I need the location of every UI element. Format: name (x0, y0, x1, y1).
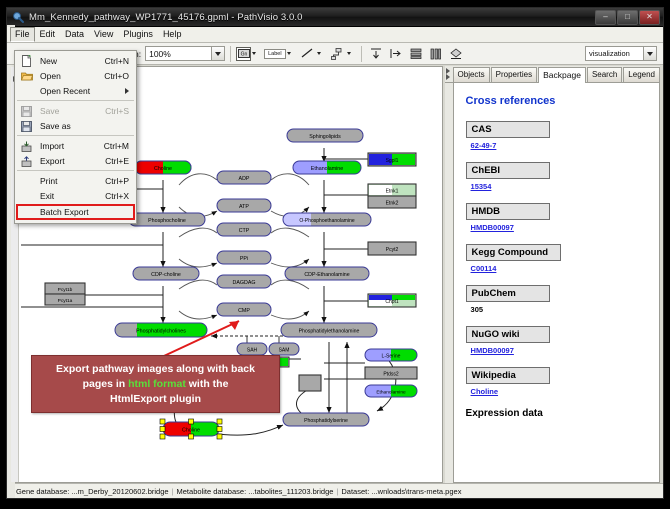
align-top-icon[interactable] (367, 45, 385, 62)
label-tool-label: Label (264, 49, 285, 59)
datanode-tool[interactable]: Gn (236, 47, 256, 61)
xref-pubchem-label: PubChem (466, 285, 550, 302)
menu-item-open-recent[interactable]: Open Recent (15, 83, 136, 98)
align-rows-icon[interactable] (407, 45, 425, 62)
visualization-combobox[interactable]: visualization (585, 46, 657, 61)
menu-item-new-label: New (40, 56, 57, 66)
svg-text:Etnk2: Etnk2 (386, 201, 399, 207)
svg-text:Pcyt1b: Pcyt1b (58, 287, 73, 293)
svg-text:Chpt1: Chpt1 (385, 299, 399, 305)
node-phosphatidylserine: Phosphatidylserine (283, 413, 369, 426)
callout-line-2-b: with the (186, 378, 229, 390)
tab-legend[interactable]: Legend (623, 67, 660, 82)
xref-cas-link[interactable]: 62-49-7 (471, 141, 497, 150)
cross-references-title: Cross references (466, 95, 649, 107)
tab-properties[interactable]: Properties (491, 67, 537, 82)
svg-text:Ptdss2: Ptdss2 (383, 372, 399, 378)
svg-text:SAM: SAM (279, 348, 290, 354)
xref-kegg-label: Kegg Compound (466, 244, 561, 261)
callout-line-3: HtmlExport plugin (110, 393, 201, 405)
gene-ptdss2: Ptdss2 (365, 367, 417, 379)
menu-item-export-label: Export (40, 156, 65, 166)
node-ppi: PPi (217, 251, 271, 264)
menu-item-open-accel: Ctrl+O (104, 71, 136, 81)
gene-pcyt1b: Pcyt1b (45, 283, 85, 294)
xref-nugo-value: HMDB00097 (466, 343, 649, 364)
chevron-down-icon[interactable] (287, 52, 291, 55)
xref-wikipedia: Wikipedia Choline (466, 367, 649, 405)
chevron-down-icon[interactable] (347, 52, 351, 55)
xref-cas: CAS 62-49-7 (466, 121, 649, 159)
xref-kegg: Kegg Compound C00114 (466, 244, 649, 282)
toolbar-separator (230, 46, 231, 62)
menu-item-import-label: Import (40, 141, 64, 151)
xref-hmdb-value: HMDB00097 (466, 220, 649, 241)
node-adp: ADP (217, 171, 271, 184)
menu-plugins[interactable]: Plugins (118, 27, 158, 42)
tab-search[interactable]: Search (587, 67, 622, 82)
xref-nugo-link[interactable]: HMDB00097 (471, 346, 514, 355)
menu-item-exit[interactable]: Exit Ctrl+X (15, 188, 136, 203)
menu-item-save-label: Save (40, 106, 59, 116)
node-sam: SAM (269, 343, 299, 355)
xref-wikipedia-link[interactable]: Choline (471, 387, 499, 396)
panel-tab-strip: Objects Properties Backpage Search Legen… (445, 66, 660, 83)
node-sphingolipids: Sphingolipids (287, 129, 363, 142)
node-ethanolamine-top: Ethanolamine (293, 161, 361, 174)
node-o-phosphoethanolamine: O-Phosphoethanolamine (283, 213, 371, 226)
pathvisio-application-window: Mm_Kennedy_pathway_WP1771_45176.gpml - P… (6, 7, 664, 499)
svg-text:Phosphocholine: Phosphocholine (148, 218, 186, 224)
label-tool[interactable]: Label (264, 49, 290, 59)
menu-item-print-accel: Ctrl+P (105, 176, 136, 186)
svg-text:ATP: ATP (239, 204, 249, 210)
node-cdp-ethanolamine: CDP-Ethanolamine (285, 267, 369, 280)
gene-etnk1: Etnk1 (368, 184, 416, 196)
xref-chebi: ChEBI 15354 (466, 162, 649, 200)
expression-data-title: Expression data (466, 408, 649, 419)
export-icon (20, 155, 33, 167)
line-icon (299, 45, 316, 62)
menu-separator (17, 100, 134, 101)
xref-cas-value: 62-49-7 (466, 138, 649, 159)
tab-scroll-grip[interactable] (446, 68, 451, 80)
menu-help[interactable]: Help (158, 27, 187, 42)
menu-item-batch-export-label: Batch Export (40, 207, 89, 217)
menu-item-print[interactable]: Print Ctrl+P (15, 173, 136, 188)
node-choline: Choline (135, 161, 191, 174)
xref-chebi-value: 15354 (466, 179, 649, 200)
submenu-arrow-icon (125, 88, 136, 94)
svg-text:Phosphatidylethanolamine: Phosphatidylethanolamine (299, 329, 360, 335)
xref-chebi-label: ChEBI (466, 162, 550, 179)
save-disk-icon (20, 105, 33, 117)
menu-item-new-accel: Ctrl+N (105, 56, 136, 66)
menu-item-save-accel: Ctrl+S (105, 106, 136, 116)
gene-etnk2: Etnk2 (368, 196, 416, 208)
node-l-serine: L-Serine (365, 349, 417, 361)
title-bar: Mm_Kennedy_pathway_WP1771_45176.gpml - P… (7, 8, 663, 27)
menu-separator (17, 170, 134, 171)
node-atp: ATP (217, 199, 271, 212)
backpage-content: Cross references CAS 62-49-7 ChEBI 15354… (453, 83, 660, 483)
svg-text:Ethanolamine: Ethanolamine (311, 166, 343, 172)
svg-text:PPi: PPi (240, 256, 248, 262)
window-title: Mm_Kennedy_pathway_WP1771_45176.gpml - P… (29, 12, 303, 23)
node-choline-selected: Choline (160, 419, 222, 439)
status-divider-3: | (336, 487, 338, 496)
pathvisio-icon (12, 11, 25, 24)
tab-objects[interactable]: Objects (453, 67, 490, 82)
svg-text:O-Phosphoethanolamine: O-Phosphoethanolamine (299, 218, 355, 224)
side-panel: Objects Properties Backpage Search Legen… (445, 66, 660, 483)
xref-pubchem-value: 305 (466, 302, 649, 323)
menu-item-save-as[interactable]: Save as (15, 118, 136, 133)
xref-nugo: NuGO wiki HMDB00097 (466, 326, 649, 364)
node-cmp: CMP (217, 303, 271, 316)
interaction-tool[interactable] (329, 45, 351, 62)
xref-kegg-value: C00114 (466, 261, 649, 282)
menu-item-import[interactable]: Import Ctrl+M (15, 138, 136, 153)
svg-text:Etnk1: Etnk1 (386, 189, 399, 195)
desktop-background: Mm_Kennedy_pathway_WP1771_45176.gpml - P… (0, 0, 670, 509)
status-divider-2: | (172, 487, 174, 496)
save-as-icon (20, 120, 33, 132)
svg-text:Sphingolipids: Sphingolipids (309, 134, 341, 140)
import-icon (20, 140, 33, 152)
menu-item-batch-export[interactable]: Batch Export (16, 204, 135, 220)
xref-chebi-link[interactable]: 15354 (471, 182, 492, 191)
callout-line-2-a: pages in (83, 378, 129, 390)
xref-cas-label: CAS (466, 121, 550, 138)
svg-text:CMP: CMP (238, 308, 250, 314)
menu-item-save-as-label: Save as (40, 121, 71, 131)
status-dataset: Dataset: ...wnloads\trans-meta.pgex (341, 487, 461, 496)
chevron-down-icon[interactable] (317, 52, 321, 55)
minimize-button[interactable]: – (595, 10, 616, 25)
xref-wikipedia-value: Choline (466, 384, 649, 405)
menu-data[interactable]: Data (60, 27, 89, 42)
node-cdp-choline: CDP-choline (133, 267, 199, 280)
menu-view[interactable]: View (89, 27, 118, 42)
window-controls: – □ ✕ (595, 10, 661, 25)
menu-item-new[interactable]: New Ctrl+N (15, 53, 136, 68)
node-phosphatidylethanolamine: Phosphatidylethanolamine (281, 323, 377, 337)
open-folder-icon (20, 70, 33, 82)
svg-text:Pcyt2: Pcyt2 (386, 247, 399, 253)
xref-hmdb-label: HMDB (466, 203, 550, 220)
menu-item-open-recent-label: Open Recent (40, 86, 90, 96)
svg-text:L-Serine: L-Serine (382, 354, 401, 360)
xref-pubchem: PubChem 305 (466, 285, 649, 323)
close-button[interactable]: ✕ (639, 10, 660, 25)
chevron-down-icon (643, 47, 656, 60)
svg-text:CDP-Ethanolamine: CDP-Ethanolamine (304, 272, 349, 278)
gene-ptdss1 (299, 375, 321, 391)
xref-hmdb-link[interactable]: HMDB00097 (471, 223, 514, 232)
xref-wikipedia-label: Wikipedia (466, 367, 550, 384)
svg-text:ADP: ADP (239, 176, 250, 182)
stack-icon[interactable] (447, 45, 465, 62)
menu-item-open-label: Open (40, 71, 61, 81)
line-tool[interactable] (299, 45, 321, 62)
menu-item-save: Save Ctrl+S (15, 103, 136, 118)
svg-text:Phosphatidylserine: Phosphatidylserine (304, 418, 348, 424)
menu-item-exit-label: Exit (40, 191, 54, 201)
gene-sgpl1: Sgpl1 (368, 153, 416, 166)
svg-text:Gn: Gn (240, 52, 247, 58)
status-gene-database: Gene database: ...m_Derby_20120602.bridg… (16, 487, 169, 496)
node-dagdag: DAGDAG (217, 275, 271, 288)
xref-nugo-label: NuGO wiki (466, 326, 550, 343)
svg-text:CDP-choline: CDP-choline (151, 272, 181, 278)
interaction-icon (329, 45, 346, 62)
zoom-combobox[interactable]: 100% (145, 46, 225, 61)
maximize-button[interactable]: □ (617, 10, 638, 25)
svg-text:DAGDAG: DAGDAG (233, 280, 256, 286)
node-ethanolamine-bottom: Ethanolamine (365, 385, 417, 397)
menu-item-exit-accel: Ctrl+X (105, 191, 136, 201)
new-file-icon (20, 55, 33, 67)
xref-hmdb: HMDB HMDB00097 (466, 203, 649, 241)
callout-highlight: html format (128, 378, 186, 390)
tab-backpage[interactable]: Backpage (538, 67, 586, 83)
gene-chpt1: Chpt1 (368, 294, 416, 307)
gene-pcyt1a: Pcyt1a (45, 294, 85, 305)
svg-text:Sgpl1: Sgpl1 (386, 158, 399, 164)
chevron-down-icon[interactable] (252, 52, 256, 55)
menu-separator (17, 135, 134, 136)
menu-item-open[interactable]: Open Ctrl+O (15, 68, 136, 83)
chevron-down-icon (211, 47, 224, 60)
menu-bar: File Edit Data View Plugins Help (7, 27, 663, 43)
annotation-callout: Export pathway images along with back pa… (31, 355, 280, 413)
zoom-value: 100% (149, 49, 171, 59)
menu-item-print-label: Print (40, 176, 57, 186)
visualization-value: visualization (589, 49, 630, 58)
node-ctp: CTP (217, 223, 271, 236)
xref-kegg-link[interactable]: C00114 (471, 264, 497, 273)
svg-text:Ethanolamine: Ethanolamine (376, 390, 406, 396)
menu-item-export-accel: Ctrl+E (105, 156, 136, 166)
svg-text:CTP: CTP (239, 228, 250, 234)
svg-text:Pcyt1a: Pcyt1a (58, 298, 73, 304)
status-metabolite-database: Metabolite database: ...tabolites_111203… (177, 487, 334, 496)
node-phosphocholine: Phosphocholine (129, 213, 205, 226)
svg-text:Choline: Choline (154, 166, 172, 172)
menu-file[interactable]: File (10, 27, 35, 42)
menu-item-import-accel: Ctrl+M (104, 141, 136, 151)
genenode-icon: Gn (236, 47, 251, 61)
svg-text:Choline: Choline (182, 428, 200, 434)
status-bar: | Gene database: ...m_Derby_20120602.bri… (7, 483, 663, 498)
menu-edit[interactable]: Edit (35, 27, 61, 42)
callout-line-1: Export pathway images along with back (56, 363, 255, 375)
align-columns-icon[interactable] (427, 45, 445, 62)
gene-pcyt2: Pcyt2 (368, 242, 416, 255)
menu-item-export[interactable]: Export Ctrl+E (15, 153, 136, 168)
align-left-icon[interactable] (387, 45, 405, 62)
file-dropdown-menu[interactable]: New Ctrl+N Open Ctrl+O Open Recent Save (14, 50, 137, 224)
